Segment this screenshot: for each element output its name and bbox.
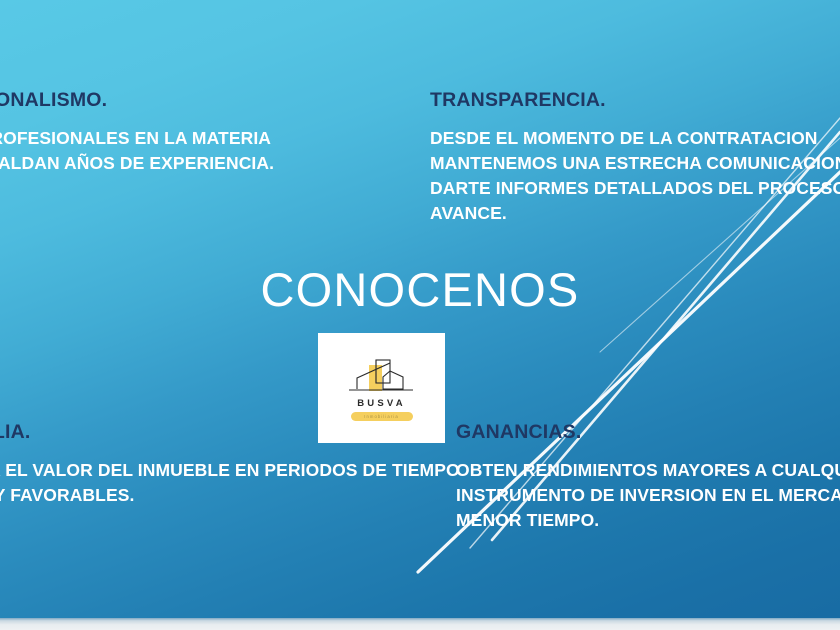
text-block-profesionalismo: PROFESIONALISMO. SOMOS PROFESIONALES EN … — [0, 88, 274, 176]
page-title: CONOCENOS — [0, 266, 840, 313]
body-plusvalia: AUMENTA EL VALOR DEL INMUEBLE EN PERIODO… — [0, 458, 460, 508]
presentation-slide: PROFESIONALISMO. SOMOS PROFESIONALES EN … — [0, 0, 840, 630]
body-line: AVANCE. — [430, 201, 840, 226]
heading-ganancias: GANANCIAS. — [456, 420, 840, 444]
slide-bottom-edge — [0, 618, 840, 630]
body-ganancias: OBTEN RENDIMIENTOS MAYORES A CUALQUIER I… — [456, 458, 840, 533]
body-profesionalismo: SOMOS PROFESIONALES EN LA MATERIA QUE RE… — [0, 126, 274, 176]
body-line: CORTOS Y FAVORABLES. — [0, 483, 460, 508]
body-line: MENOR TIEMPO. — [456, 508, 840, 533]
logo-card: BUSVA Inmobiliaria — [318, 333, 445, 443]
body-line: SOMOS PROFESIONALES EN LA MATERIA — [0, 126, 274, 151]
logo-tagline: Inmobiliaria — [351, 412, 413, 421]
heading-transparencia: TRANSPARENCIA. — [430, 88, 840, 112]
heading-profesionalismo: PROFESIONALISMO. — [0, 88, 274, 112]
body-line: DARTE INFORMES DETALLADOS DEL PROCESO — [430, 176, 840, 201]
body-line: OBTEN RENDIMIENTOS MAYORES A CUALQUIER — [456, 458, 840, 483]
busva-building-logo-icon — [343, 357, 421, 397]
logo-wordmark: BUSVA — [318, 399, 445, 409]
body-transparencia: DESDE EL MOMENTO DE LA CONTRATACION MANT… — [430, 126, 840, 226]
body-line: QUE RESPALDAN AÑOS DE EXPERIENCIA. — [0, 151, 274, 176]
text-block-transparencia: TRANSPARENCIA. DESDE EL MOMENTO DE LA CO… — [430, 88, 840, 226]
text-block-ganancias: GANANCIAS. OBTEN RENDIMIENTOS MAYORES A … — [456, 420, 840, 533]
body-line: INSTRUMENTO DE INVERSION EN EL MERCADO E… — [456, 483, 840, 508]
body-line: AUMENTA EL VALOR DEL INMUEBLE EN PERIODO… — [0, 458, 460, 483]
logo-tagline-pill: Inmobiliaria — [351, 412, 413, 421]
body-line: DESDE EL MOMENTO DE LA CONTRATACION — [430, 126, 840, 151]
body-line: MANTENEMOS UNA ESTRECHA COMUNICACION — [430, 151, 840, 176]
